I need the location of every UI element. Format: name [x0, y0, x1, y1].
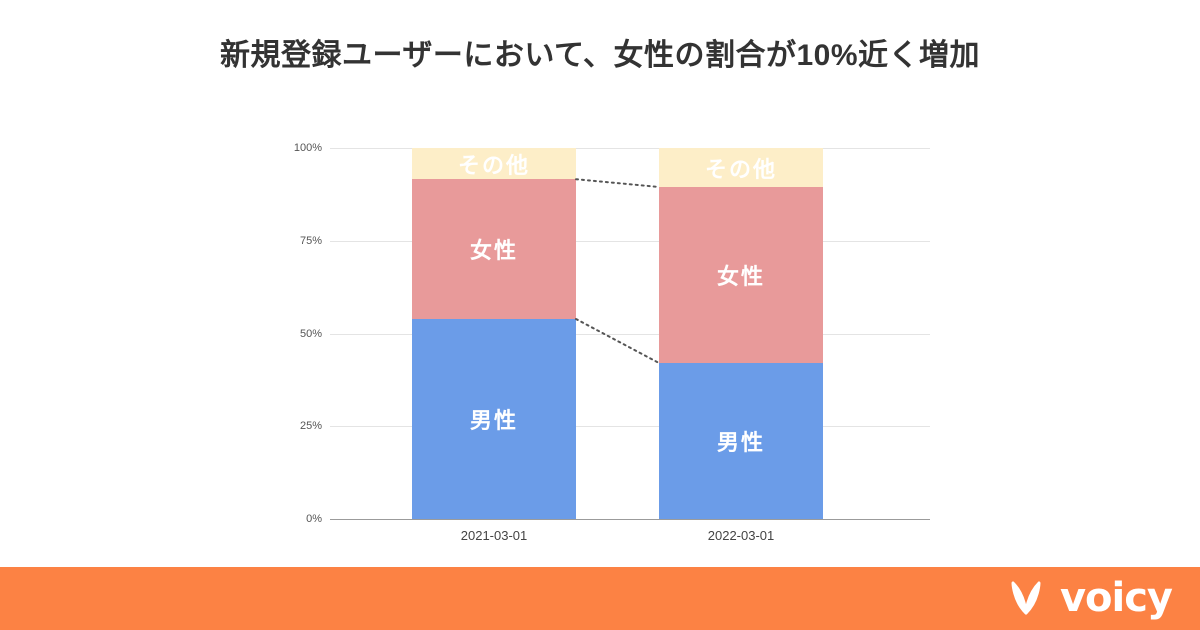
y-tick-label-50: 50% [262, 328, 322, 340]
bar-segment-male-2022[interactable]: 男性 [659, 363, 823, 519]
bar-segment-male-2021[interactable]: 男性 [412, 319, 576, 519]
bar-2022-03-01[interactable]: その他 女性 男性 [659, 148, 823, 519]
y-tick-label-100: 100% [262, 142, 322, 154]
segment-label-male-2021: 男性 [470, 403, 518, 435]
segment-label-female-2021: 女性 [470, 233, 518, 265]
y-tick-label-0: 0% [262, 513, 322, 525]
segment-label-female-2022: 女性 [717, 259, 765, 291]
voicy-wordmark: voicy [1060, 578, 1172, 618]
y-tick-label-75: 75% [262, 235, 322, 247]
x-tick-label-2021: 2021-03-01 [394, 528, 594, 543]
voicy-leaf-logo-icon [1004, 575, 1050, 621]
segment-label-other-2022: その他 [705, 152, 777, 184]
bar-segment-other-2022[interactable]: その他 [659, 148, 823, 187]
y-tick-label-25: 25% [262, 420, 322, 432]
segment-label-male-2022: 男性 [717, 425, 765, 457]
segment-label-other-2021: その他 [458, 148, 530, 180]
bar-segment-other-2021[interactable]: その他 [412, 148, 576, 179]
voicy-logo: voicy [1004, 575, 1172, 621]
x-tick-label-2022: 2022-03-01 [641, 528, 841, 543]
bar-2021-03-01[interactable]: その他 女性 男性 [412, 148, 576, 519]
bar-segment-female-2022[interactable]: 女性 [659, 187, 823, 363]
chart-container: 100% 75% 50% 25% 0% その他 女性 男性 その他 女性 男性 … [0, 0, 1200, 567]
bar-segment-female-2021[interactable]: 女性 [412, 179, 576, 319]
axis-baseline [330, 519, 930, 520]
